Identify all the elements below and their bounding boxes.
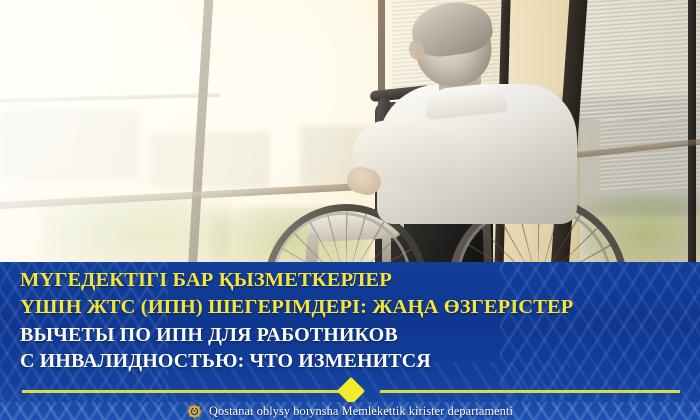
title-kazakh-line-1: МҮГЕДЕКТІГІ БАР ҚЫЗМЕТКЕРЛЕР <box>20 270 680 291</box>
footer-organization-name: Qostanaı oblysy boıynsha Memlekettik kir… <box>209 404 513 419</box>
diamond-icon <box>337 377 365 405</box>
title-russian-line-2: С ИНВАЛИДНОСТЬЮ: ЧТО ИЗМЕНИТСЯ <box>20 351 680 371</box>
state-emblem-icon <box>187 404 202 419</box>
title-banner: МҮГЕДЕКТІГІ БАР ҚЫЗМЕТКЕРЛЕР ҮШІН ЖТС (И… <box>0 262 700 420</box>
footer-content: Qostanaı oblysy boıynsha Memlekettik kir… <box>0 402 700 420</box>
divider-rule-right <box>380 390 680 393</box>
decorative-divider <box>0 380 700 402</box>
hero-photo <box>0 0 700 268</box>
photo-light-overlay <box>0 0 700 268</box>
title-kazakh-line-2: ҮШІН ЖТС (ИПН) ШЕГЕРІМДЕРІ: ЖАҢА ӨЗГЕРІС… <box>20 297 680 318</box>
banner-titles: МҮГЕДЕКТІГІ БАР ҚЫЗМЕТКЕРЛЕР ҮШІН ЖТС (И… <box>20 270 680 377</box>
social-media-announcement-card: МҮГЕДЕКТІГІ БАР ҚЫЗМЕТКЕРЛЕР ҮШІН ЖТС (И… <box>0 0 700 420</box>
divider-rule-left <box>22 390 342 393</box>
title-russian-line-1: ВЫЧЕТЫ ПО ИПН ДЛЯ РАБОТНИКОВ <box>20 325 680 345</box>
footer-bar: Qostanaı oblysy boıynsha Memlekettik kir… <box>0 402 700 420</box>
